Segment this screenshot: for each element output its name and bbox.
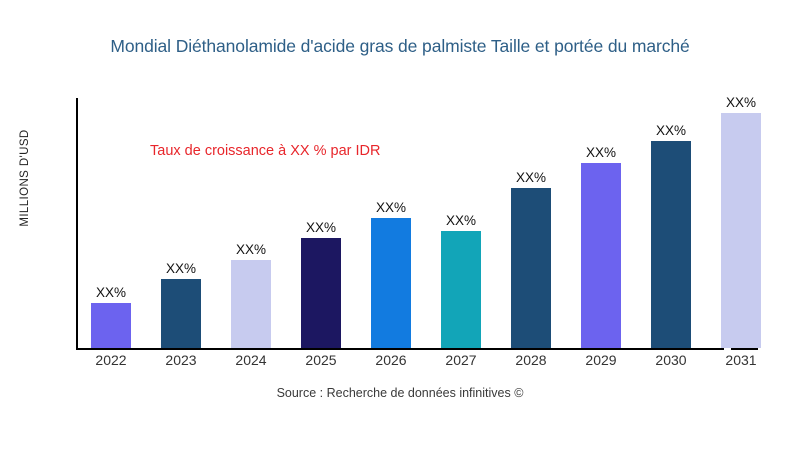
bar-value-label: XX% [306,220,336,235]
bar-item-2023[interactable]: XX% [161,257,201,348]
bar-value-label: XX% [726,95,756,110]
bar-rect[interactable] [231,260,271,348]
bar-value-label: XX% [446,213,476,228]
bar-rect[interactable] [441,231,481,348]
bar-value-label: XX% [656,123,686,138]
bar-value-label: XX% [376,200,406,215]
x-tick-2025: 2025 [305,352,336,368]
source-caption: Source : Recherche de données infinitive… [0,386,800,400]
bar-item-2030[interactable]: XX% [651,119,691,348]
bar-rect[interactable] [161,279,201,348]
bar-value-label: XX% [236,242,266,257]
bar-rect[interactable] [511,188,551,348]
x-tick-2031: 2031 [725,352,756,368]
x-tick-2022: 2022 [95,352,126,368]
x-tick-2026: 2026 [375,352,406,368]
bar-rect[interactable] [651,141,691,348]
bar-value-label: XX% [586,145,616,160]
bar-rect[interactable] [371,218,411,348]
bar-item-2022[interactable]: XX% [91,281,131,348]
bar-rect[interactable] [721,113,761,348]
x-tick-2029: 2029 [585,352,616,368]
bar-item-2031[interactable]: XX% [721,91,761,348]
chart-figure: Mondial Diéthanolamide d'acide gras de p… [0,0,800,450]
bar-item-2026[interactable]: XX% [371,196,411,348]
x-tick-2024: 2024 [235,352,266,368]
bar-item-2024[interactable]: XX% [231,238,271,348]
bar-value-label: XX% [96,285,126,300]
x-tick-2023: 2023 [165,352,196,368]
bar-rect[interactable] [301,238,341,348]
bar-value-label: XX% [516,170,546,185]
x-tick-2028: 2028 [515,352,546,368]
x-axis-tick-labels: 2022202320242025202620272028202920302031 [0,352,800,376]
x-tick-2027: 2027 [445,352,476,368]
bar-rect[interactable] [581,163,621,348]
bar-item-2029[interactable]: XX% [581,141,621,348]
bar-item-2025[interactable]: XX% [301,216,341,348]
bar-item-2028[interactable]: XX% [511,166,551,348]
bar-rect[interactable] [91,303,131,348]
bar-value-label: XX% [166,261,196,276]
bar-series: XX%XX%XX%XX%XX%XX%XX%XX%XX%XX% [0,0,800,450]
x-tick-2030: 2030 [655,352,686,368]
bar-item-2027[interactable]: XX% [441,209,481,348]
